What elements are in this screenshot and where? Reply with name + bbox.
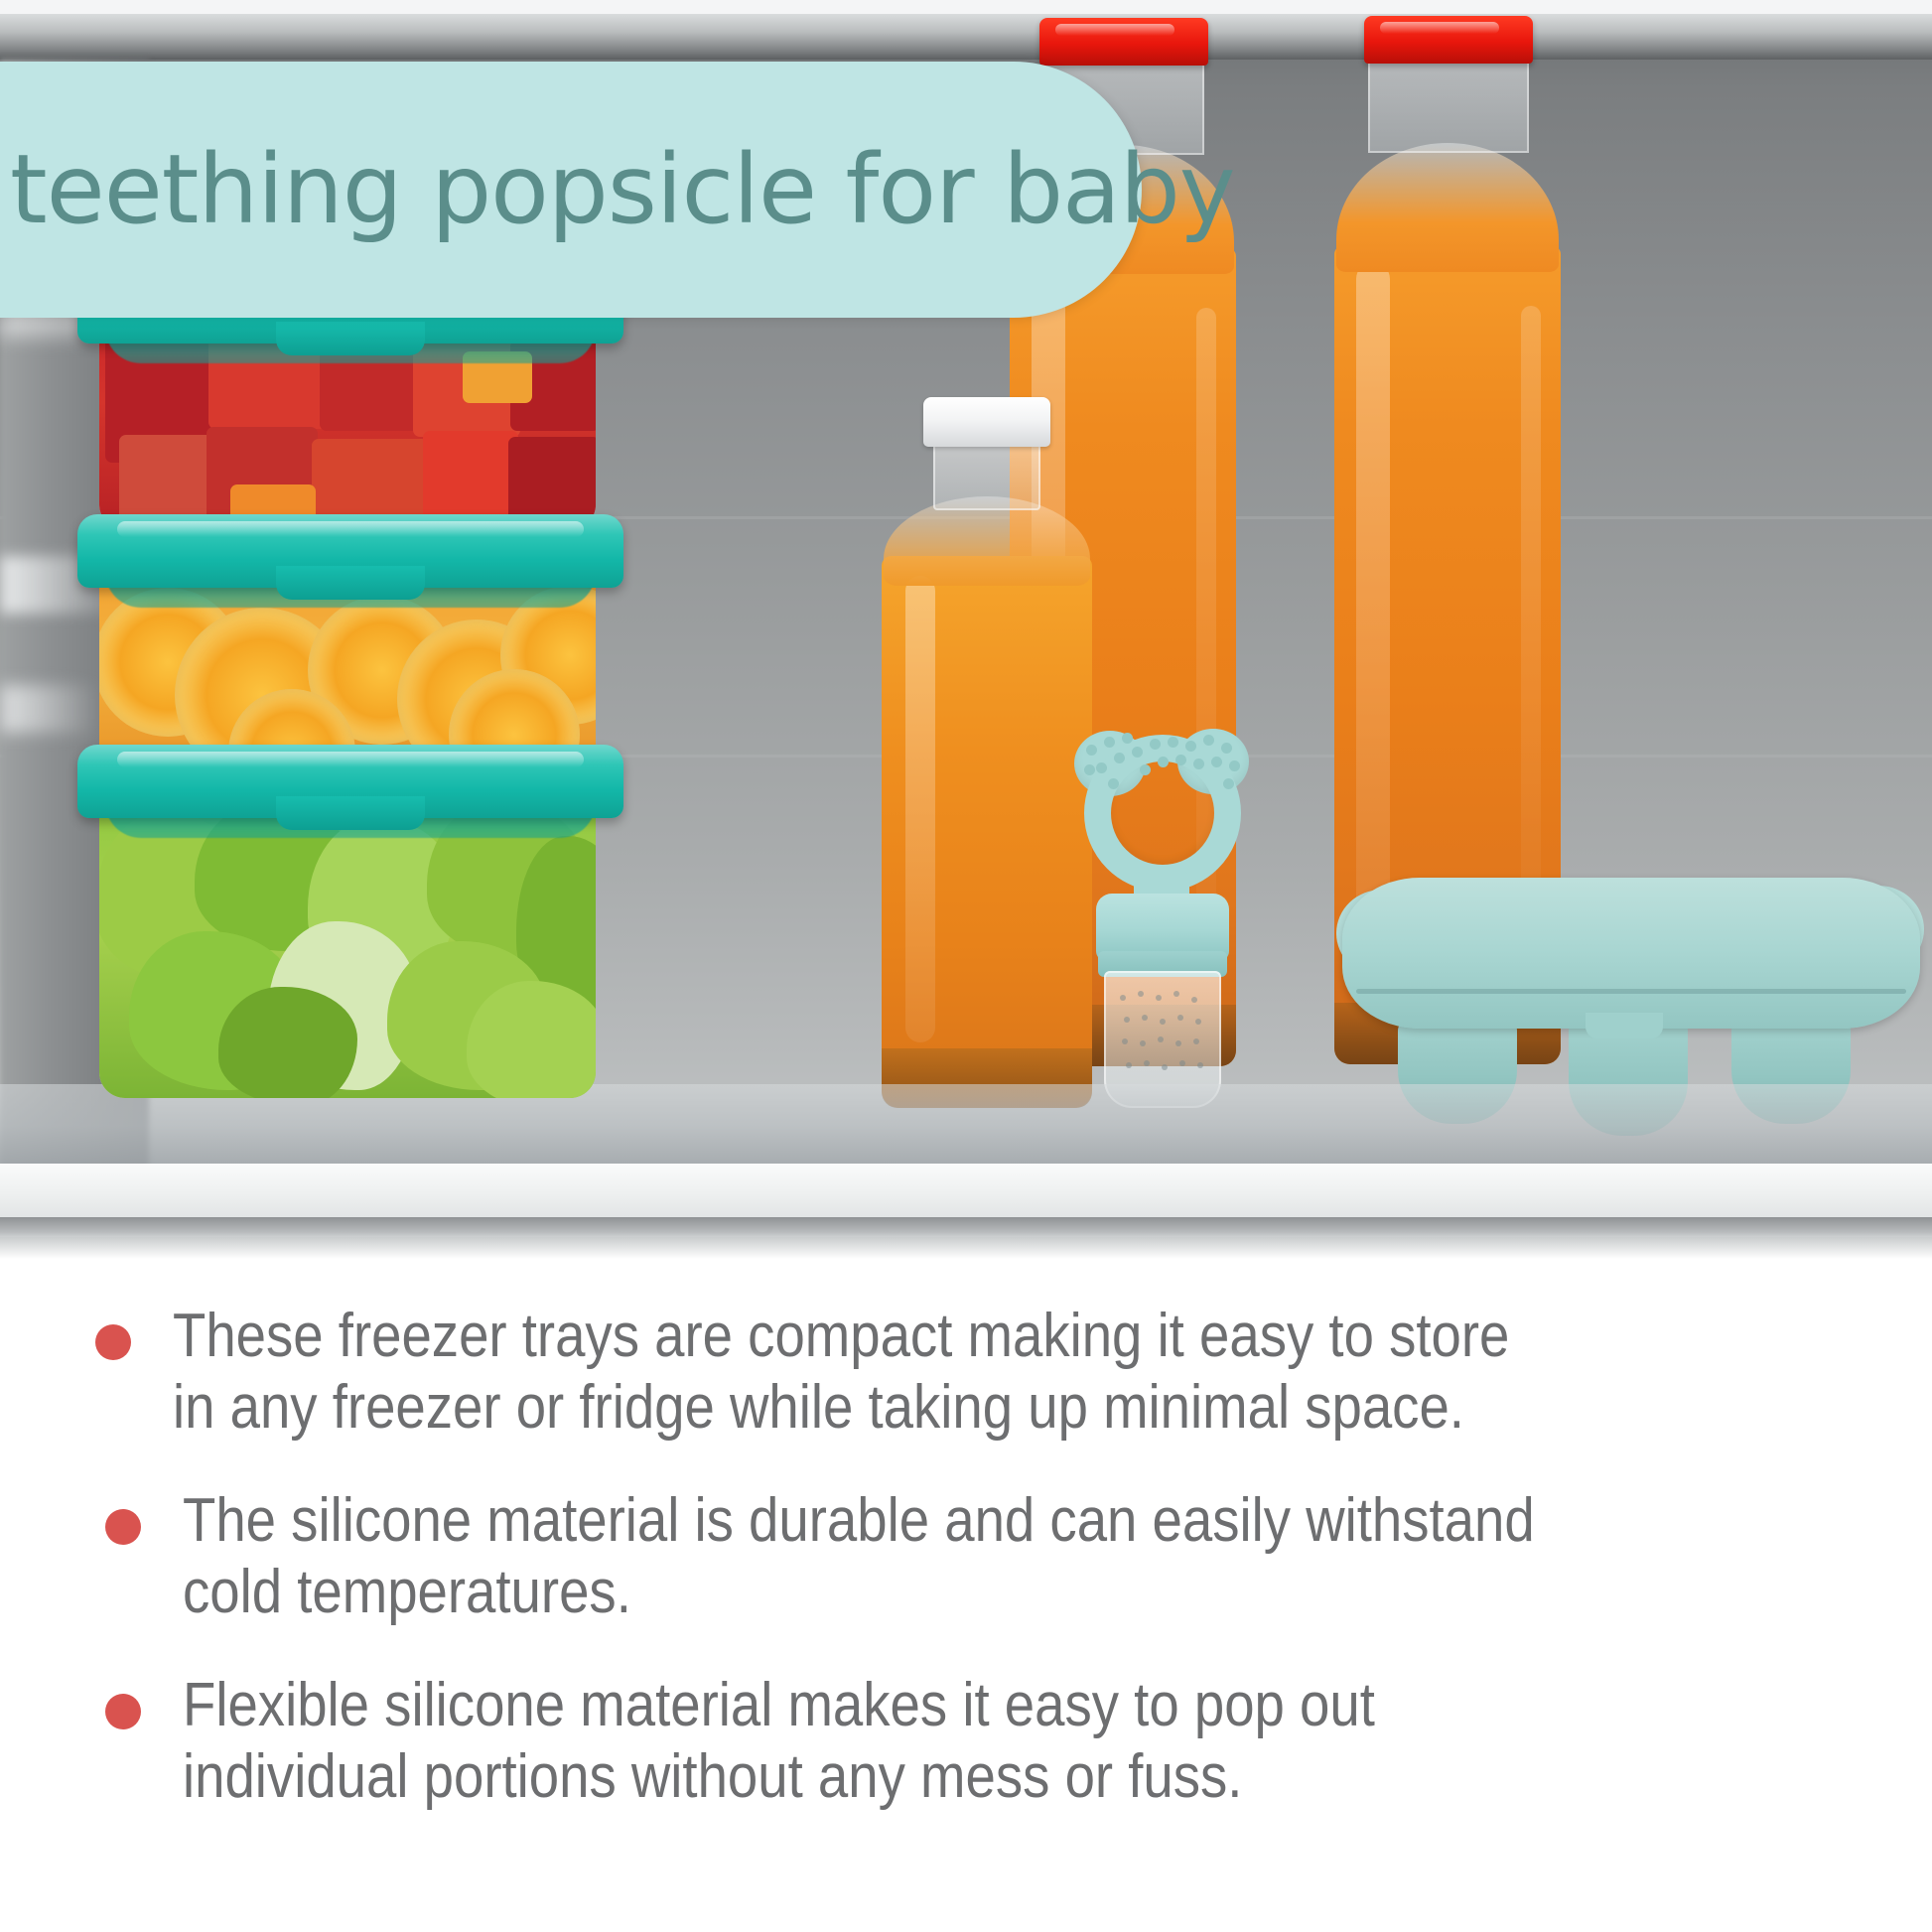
feature-text: The silicone material is durable and can…	[183, 1485, 1546, 1628]
list-item: Flexible silicone material makes it easy…	[0, 1670, 1932, 1813]
bottle-juice	[882, 556, 1092, 1108]
list-item: The silicone material is durable and can…	[0, 1485, 1932, 1628]
container-lid-tab	[276, 796, 425, 830]
bottle-cap-white-icon	[923, 397, 1050, 447]
feature-text: These freezer trays are compact making i…	[173, 1301, 1536, 1444]
shelf-front-edge	[0, 1164, 1932, 1223]
list-item: These freezer trays are compact making i…	[0, 1301, 1932, 1444]
product-photo: teething popsicle for baby	[0, 0, 1932, 1259]
bottle-cap-red-icon	[1364, 16, 1533, 64]
container-contents-lettuce	[99, 792, 596, 1098]
product-infographic: teething popsicle for baby These freezer…	[0, 0, 1932, 1932]
upper-shelf-lip	[0, 14, 1932, 60]
shelf-underside	[0, 1217, 1932, 1239]
page-title: teething popsicle for baby	[10, 134, 1235, 245]
bottle-neck	[933, 437, 1040, 510]
bear-teething-feeder	[1062, 707, 1261, 1124]
title-banner: teething popsicle for baby	[0, 62, 1142, 318]
bullet-dot-icon	[95, 1324, 131, 1360]
container-lid-tab	[276, 322, 425, 355]
feature-text: Flexible silicone material makes it easy…	[183, 1670, 1546, 1813]
stacked-glass-containers	[77, 270, 633, 1124]
tray-lid	[1342, 878, 1920, 1029]
tray-lid-seam	[1356, 989, 1906, 994]
bottle-neck	[1368, 58, 1529, 153]
bullet-dot-icon	[105, 1694, 141, 1729]
bottle-cap-red-icon	[1039, 18, 1208, 66]
bottle-shoulder	[1336, 143, 1559, 272]
container-lid-tab	[276, 566, 425, 600]
container-body	[99, 792, 596, 1098]
bullet-dot-icon	[105, 1509, 141, 1545]
feature-list: These freezer trays are compact making i…	[0, 1259, 1932, 1932]
feeder-texture-bumps	[1078, 729, 1249, 798]
tray-lid-tab	[1586, 1013, 1663, 1038]
photo-top-edge	[0, 0, 1932, 14]
shelf-lower-gap	[0, 1237, 1932, 1259]
